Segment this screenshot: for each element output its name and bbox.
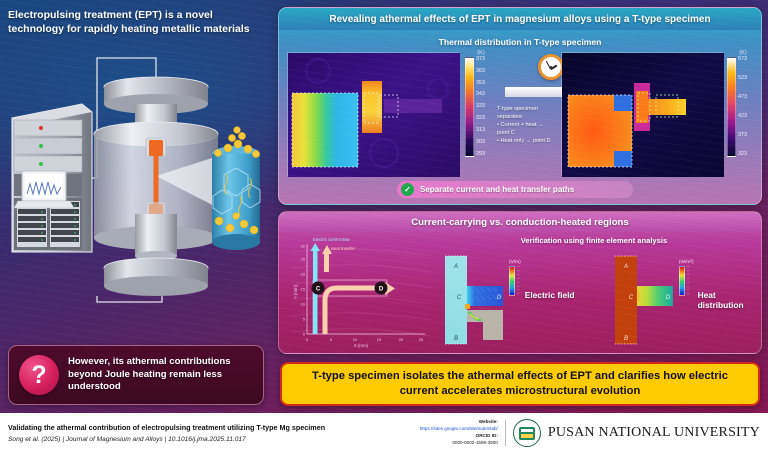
footer-right: Website: https://sites.google.com/site/m… [420, 419, 768, 447]
apparatus-illustration [4, 56, 270, 338]
tick: 313 [476, 128, 485, 133]
tick: 373 [476, 57, 485, 62]
footer-divider [505, 420, 506, 446]
panel-current-vs-heat: Current-carrying vs. conduction-heated r… [278, 211, 762, 354]
fea-electric-field-ticks: ———————— [517, 266, 520, 296]
tick: 423 [738, 114, 747, 119]
panel-thermal-distribution: Revealing athermal effects of EPT in mag… [278, 7, 762, 205]
x-tick: 0 [306, 337, 309, 342]
fea-heat-distribution-colorbar [679, 266, 685, 296]
fea-heat-distribution: A B C D (W/m²) ———————— Heat distributio… [609, 252, 762, 348]
citation-journal: Journal of Magnesium and Alloys [66, 436, 163, 443]
citation-sep: | [62, 436, 64, 443]
lead-statement: Electropulsing treatment (EPT) is a nove… [8, 8, 260, 36]
university-name: PUSAN NATIONAL UNIVERSITY [548, 425, 760, 441]
colorbar-right: (K) 573 523 473 423 373 323 [727, 50, 759, 157]
fea-label-a: A [453, 264, 458, 270]
y-tick: 5 [303, 317, 306, 322]
tick: 573 [738, 57, 747, 62]
laptop-icon [14, 171, 74, 208]
tick: 343 [476, 92, 485, 97]
y-tick: 10 [301, 302, 306, 307]
conclusion-banner: T-type specimen isolates the athermal ef… [280, 362, 760, 406]
tick: 473 [738, 95, 747, 100]
point-d-label: D [379, 286, 384, 292]
fea-label-d: D [497, 295, 502, 301]
colorbar-left-gradient [465, 57, 474, 157]
fea2-label-a: A [623, 264, 628, 270]
panel-bottom-title: Current-carrying vs. conduction-heated r… [279, 212, 761, 232]
y-tick: 15 [301, 287, 306, 292]
paper-title: Validating the athermal contribution of … [8, 423, 370, 433]
fea-label-b: B [454, 336, 458, 342]
conclusion-text: T-type specimen isolates the athermal ef… [282, 369, 758, 398]
tick: 353 [476, 81, 485, 86]
fea-heat-distribution-image: A B C D [609, 252, 675, 348]
tick: 373 [738, 133, 747, 138]
fea-heat-distribution-ticks: ———————— [687, 266, 690, 296]
check-icon: ✓ [401, 183, 414, 196]
fea-label-c: C [457, 295, 462, 301]
y-tick: 20 [301, 272, 306, 277]
y-tick: 0 [303, 332, 306, 337]
fea2-label-b: B [624, 336, 628, 342]
tick: 323 [738, 152, 747, 157]
fea2-label-c: C [629, 295, 634, 301]
colorbar-left-ticks: 373 363 353 343 333 323 313 303 293 [476, 57, 485, 157]
university-seal-icon [513, 419, 541, 447]
x-tick: 25 [419, 337, 424, 342]
fea-electric-field-image: A B C D [439, 252, 505, 348]
x-tick: 10 [353, 337, 358, 342]
thermal-image-row: (K) 373 363 353 343 333 323 313 303 293 [279, 50, 761, 185]
fea-electric-field-caption: Electric field [525, 290, 575, 300]
citation-sep-2: | [165, 436, 167, 443]
citation-author: Song et al. (2025) [8, 436, 60, 443]
website-label: Website: [479, 419, 498, 424]
tick: 323 [476, 116, 485, 121]
key-finding-pill: ✓ Separate current and heat transfer pat… [397, 181, 633, 198]
y-tick: 30 [301, 244, 306, 249]
orcid-value: 0000-0002-1589-3900 [452, 440, 497, 445]
current-heat-schematic: 0 5 10 15 20 25 30 0 5 10 15 20 25 X [291, 238, 431, 348]
thermal-image-before [287, 52, 459, 176]
fea-subtitle: Verification using finite element analys… [429, 236, 759, 245]
fea-heat-distribution-caption: Heat distribution [698, 290, 762, 310]
fea-electric-field-colorbar [509, 266, 515, 296]
tick: 333 [476, 104, 485, 109]
crystal-structure-icon [212, 127, 260, 250]
footer-left: Validating the athermal contribution of … [0, 423, 370, 443]
website-link[interactable]: https://sites.google.com/site/mdemlab/ [420, 426, 498, 431]
x-tick: 5 [330, 337, 333, 342]
colorbar-right-ticks: 573 523 473 423 373 323 [738, 57, 747, 157]
website-block: Website: https://sites.google.com/site/m… [420, 419, 498, 447]
y-axis-label: Y (mm) [293, 284, 298, 299]
pill-label: Separate current and heat transfer paths [420, 185, 574, 194]
question-text: However, its athermal contributions beyo… [68, 356, 253, 394]
orcid-label: ORCID ID: [476, 433, 498, 438]
x-tick: 15 [377, 337, 382, 342]
y-tick: 25 [301, 257, 306, 262]
question-card: ? However, its athermal contributions be… [8, 345, 264, 405]
panel-top-subtitle: Thermal distribution in T-type specimen [279, 37, 761, 47]
x-tick: 20 [399, 337, 404, 342]
panel-top-title: Revealing athermal effects of EPT in mag… [279, 8, 761, 30]
tick: 363 [476, 69, 485, 74]
paper-citation: Song et al. (2025) | Journal of Magnesiu… [8, 436, 370, 443]
compression-press-icon [94, 77, 218, 296]
footer: Validating the athermal contribution of … [0, 413, 768, 453]
tick: 523 [738, 76, 747, 81]
legend-heat: Heat transfer [331, 246, 356, 251]
colorbar-left: (K) 373 363 353 343 333 323 313 303 293 [465, 50, 497, 157]
infographic-poster: Electropulsing treatment (EPT) is a nove… [0, 0, 768, 453]
thermal-image-after [561, 52, 723, 176]
left-column: Electropulsing treatment (EPT) is a nove… [0, 0, 272, 413]
fea-electric-field: A B C D (V/m) ———————— Electric field [439, 252, 594, 348]
tick: 293 [476, 152, 485, 157]
colorbar-right-gradient [727, 57, 736, 157]
x-axis-label: X (mm) [354, 343, 369, 348]
legend-current: Electric current flow [313, 238, 351, 242]
question-mark-icon: ? [19, 355, 59, 395]
point-c-label: C [316, 286, 321, 292]
citation-doi: 10.1016/j.jma.2025.11.017 [168, 436, 246, 443]
tick: 303 [476, 140, 485, 145]
fea2-label-d: D [666, 295, 671, 301]
